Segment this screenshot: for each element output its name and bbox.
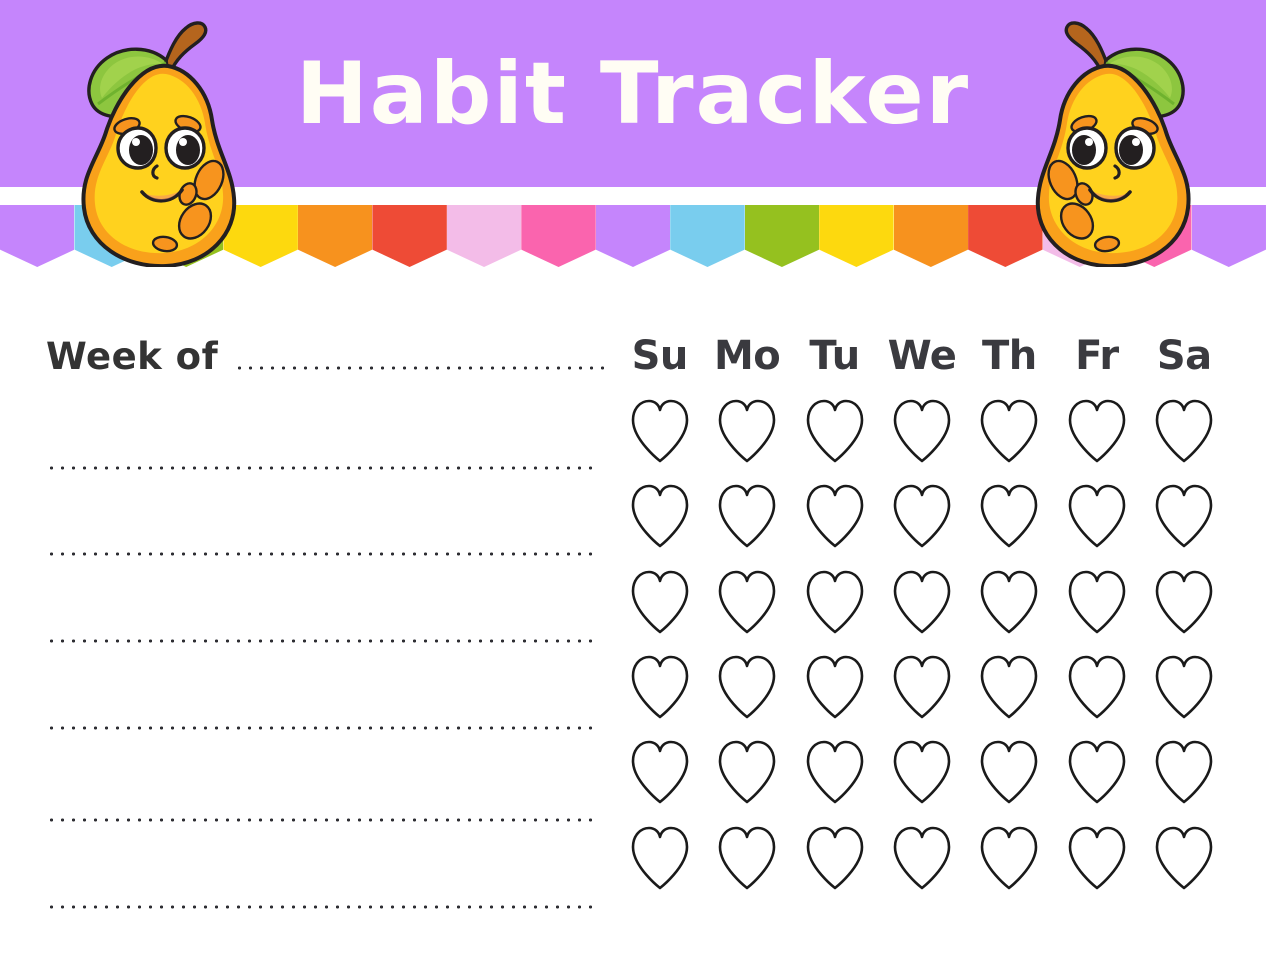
heart-icon[interactable] (1053, 825, 1140, 891)
day-header-sa: Sa (1141, 333, 1228, 379)
heart-icon[interactable] (616, 654, 703, 720)
heart-icon[interactable] (1141, 654, 1228, 720)
heart-icon[interactable] (616, 398, 703, 464)
day-header-we: We (878, 333, 965, 379)
heart-icon[interactable] (878, 825, 965, 891)
habit-hearts-grid (616, 398, 1228, 910)
pear-character-icon-right (1020, 8, 1210, 273)
habit-line-1[interactable] (46, 466, 596, 470)
heart-icon[interactable] (1053, 654, 1140, 720)
day-header-row: Su Mo Tu We Th Fr Sa (616, 326, 1228, 386)
heart-icon[interactable] (966, 398, 1053, 464)
week-of-input[interactable] (234, 336, 612, 376)
day-header-th: Th (966, 333, 1053, 379)
week-of-dotted-line (234, 366, 612, 370)
heart-icon[interactable] (1141, 483, 1228, 549)
bunting-flag (670, 205, 744, 267)
heart-icon[interactable] (1141, 739, 1228, 805)
heart-icon[interactable] (878, 654, 965, 720)
habit-hearts-row (616, 654, 1228, 739)
heart-icon[interactable] (703, 739, 790, 805)
heart-icon[interactable] (1141, 569, 1228, 635)
heart-icon[interactable] (616, 739, 703, 805)
habit-hearts-row (616, 739, 1228, 824)
day-header-mo: Mo (703, 333, 790, 379)
heart-icon[interactable] (703, 825, 790, 891)
heart-icon[interactable] (703, 654, 790, 720)
habit-line-6[interactable] (46, 905, 596, 909)
heart-icon[interactable] (966, 739, 1053, 805)
heart-icon[interactable] (966, 654, 1053, 720)
heart-icon[interactable] (878, 483, 965, 549)
bunting-flag (447, 205, 521, 267)
day-header-fr: Fr (1053, 333, 1140, 379)
heart-icon[interactable] (1053, 483, 1140, 549)
bunting-flag (372, 205, 446, 267)
heart-icon[interactable] (1053, 739, 1140, 805)
heart-icon[interactable] (878, 569, 965, 635)
habit-hearts-row (616, 483, 1228, 568)
heart-icon[interactable] (703, 569, 790, 635)
heart-icon[interactable] (791, 569, 878, 635)
week-of-row: Week of (46, 325, 612, 387)
heart-icon[interactable] (966, 569, 1053, 635)
heart-icon[interactable] (878, 398, 965, 464)
heart-icon[interactable] (791, 825, 878, 891)
heart-icon[interactable] (703, 483, 790, 549)
bunting-flag (819, 205, 893, 267)
heart-icon[interactable] (791, 739, 878, 805)
habit-hearts-row (616, 569, 1228, 654)
habit-hearts-row (616, 825, 1228, 910)
heart-icon[interactable] (791, 483, 878, 549)
heart-icon[interactable] (703, 398, 790, 464)
bunting-flag (521, 205, 595, 267)
bunting-flag (298, 205, 372, 267)
heart-icon[interactable] (791, 654, 878, 720)
pear-character-icon-left (62, 8, 252, 273)
bunting-flag (596, 205, 670, 267)
heart-icon[interactable] (616, 483, 703, 549)
bunting-flag (894, 205, 968, 267)
heart-icon[interactable] (616, 569, 703, 635)
day-header-tu: Tu (791, 333, 878, 379)
habit-line-4[interactable] (46, 726, 596, 730)
habit-line-5[interactable] (46, 818, 596, 822)
heart-icon[interactable] (878, 739, 965, 805)
heart-icon[interactable] (1053, 569, 1140, 635)
heart-icon[interactable] (966, 825, 1053, 891)
bunting-flag (745, 205, 819, 267)
week-of-label: Week of (46, 335, 218, 378)
heart-icon[interactable] (791, 398, 878, 464)
day-header-su: Su (616, 333, 703, 379)
habit-line-2[interactable] (46, 552, 596, 556)
habit-hearts-row (616, 398, 1228, 483)
habit-line-3[interactable] (46, 639, 596, 643)
heart-icon[interactable] (1141, 825, 1228, 891)
heart-icon[interactable] (616, 825, 703, 891)
heart-icon[interactable] (966, 483, 1053, 549)
heart-icon[interactable] (1141, 398, 1228, 464)
heart-icon[interactable] (1053, 398, 1140, 464)
